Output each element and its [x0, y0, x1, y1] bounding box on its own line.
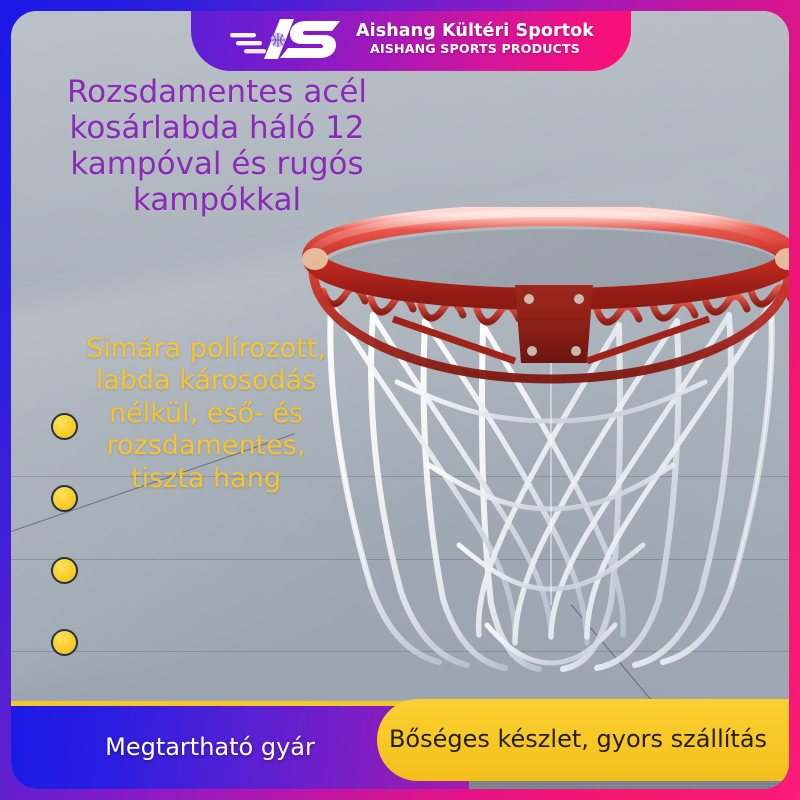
brand-name-english: AISHANG SPORTS PRODUCTS — [356, 43, 594, 56]
bullet-dot-icon — [51, 557, 78, 584]
as-monogram-logo-icon — [228, 13, 344, 65]
bullet-dot-icon — [51, 485, 78, 512]
feature-description: Simára polírozott, labda károsodás nélkü… — [83, 333, 329, 495]
banner-stock-shipping: Bőséges készlet, gyors szállítás — [377, 699, 789, 781]
product-poster: Rozsdamentes acél kosárlabda háló 12 kam… — [0, 0, 800, 800]
banner-left-label: Megtartható gyár — [105, 733, 371, 762]
photo-stage: Rozsdamentes acél kosárlabda háló 12 kam… — [11, 11, 789, 789]
basketball-rim-net-image — [301, 207, 789, 687]
brand-name-hungarian: Aishang Kültéri Sportok — [356, 22, 594, 40]
brand-header-ribbon: Aishang Kültéri Sportok AISHANG SPORTS P… — [191, 11, 631, 71]
brand-name-block: Aishang Kültéri Sportok AISHANG SPORTS P… — [356, 22, 594, 56]
banner-right-label: Bőséges készlet, gyors szállítás — [389, 725, 783, 754]
page-title: Rozsdamentes acél kosárlabda háló 12 kam… — [37, 75, 397, 219]
bullet-dot-icon — [51, 413, 78, 440]
bullet-dot-icon — [51, 629, 78, 656]
